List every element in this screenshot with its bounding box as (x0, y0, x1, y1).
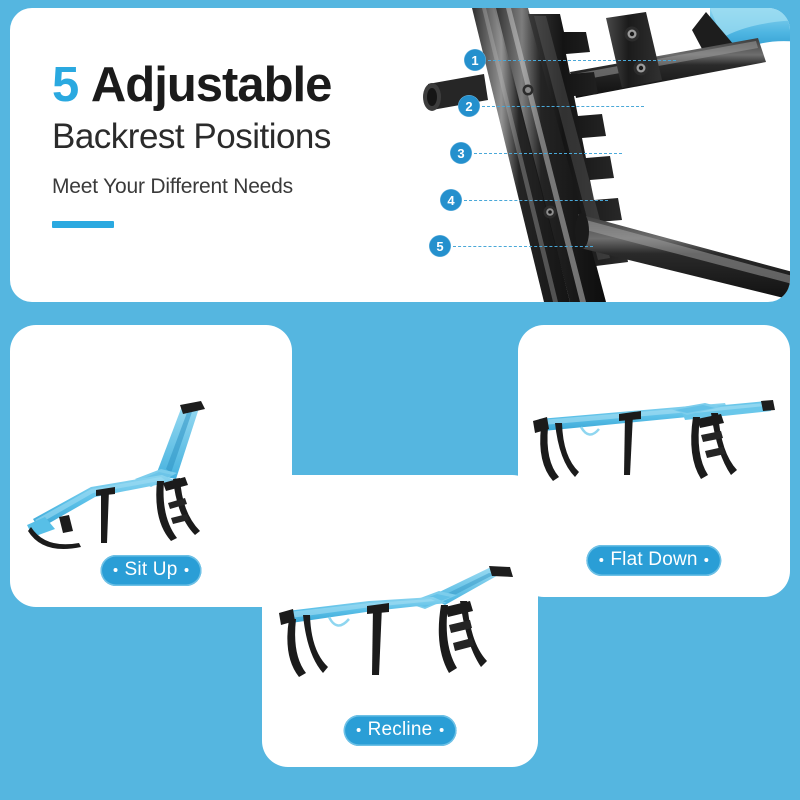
chaise-illustration-flat-down (520, 365, 788, 540)
callout-3[interactable]: 3 (450, 142, 622, 164)
callout-4[interactable]: 4 (440, 189, 608, 211)
chaise-illustration-sit-up (12, 357, 290, 557)
title-count: 5 (52, 58, 78, 112)
position-card-flat-down[interactable]: Flat Down (518, 325, 790, 597)
bullet-dot-right (705, 558, 709, 562)
header-panel: 5 Adjustable Backrest Positions Meet You… (10, 8, 790, 302)
page-title-line2: Backrest Positions (52, 115, 432, 159)
infographic-canvas: 5 Adjustable Backrest Positions Meet You… (0, 0, 800, 800)
bullet-dot-right (439, 728, 443, 732)
card-label-text: Flat Down (610, 549, 697, 571)
callout-5[interactable]: 5 (429, 235, 593, 257)
title-main: Adjustable (91, 58, 331, 112)
card-label-pill-flat-down: Flat Down (586, 545, 721, 576)
callout-leader-line (474, 153, 622, 154)
callout-badge: 1 (464, 49, 486, 71)
callout-1[interactable]: 1 (464, 49, 676, 71)
chaise-illustration-recline (264, 533, 536, 713)
callout-badge: 5 (429, 235, 451, 257)
bullet-dot-left (357, 728, 361, 732)
bullet-dot-right (184, 568, 188, 572)
position-card-recline[interactable]: Recline (262, 475, 538, 767)
bullet-dot-left (114, 568, 118, 572)
page-subtitle: Meet Your Different Needs (52, 175, 432, 199)
position-card-sit-up[interactable]: Sit Up (10, 325, 292, 607)
title-spacer (78, 58, 91, 112)
bullet-dot-left (599, 558, 603, 562)
callout-badge: 4 (440, 189, 462, 211)
card-label-text: Sit Up (125, 559, 178, 581)
callout-leader-line (464, 200, 608, 201)
callout-badge: 3 (450, 142, 472, 164)
card-label-pill-sit-up: Sit Up (101, 555, 202, 586)
accent-bar (52, 221, 114, 228)
callout-2[interactable]: 2 (458, 95, 644, 117)
card-label-pill-recline: Recline (344, 715, 457, 746)
callout-badge: 2 (458, 95, 480, 117)
card-label-text: Recline (368, 719, 433, 741)
callout-leader-line (488, 60, 676, 61)
header-text-block: 5 Adjustable Backrest Positions Meet You… (52, 60, 432, 228)
callout-leader-line (482, 106, 644, 107)
callout-leader-line (453, 246, 593, 247)
page-title: 5 Adjustable (52, 60, 432, 111)
